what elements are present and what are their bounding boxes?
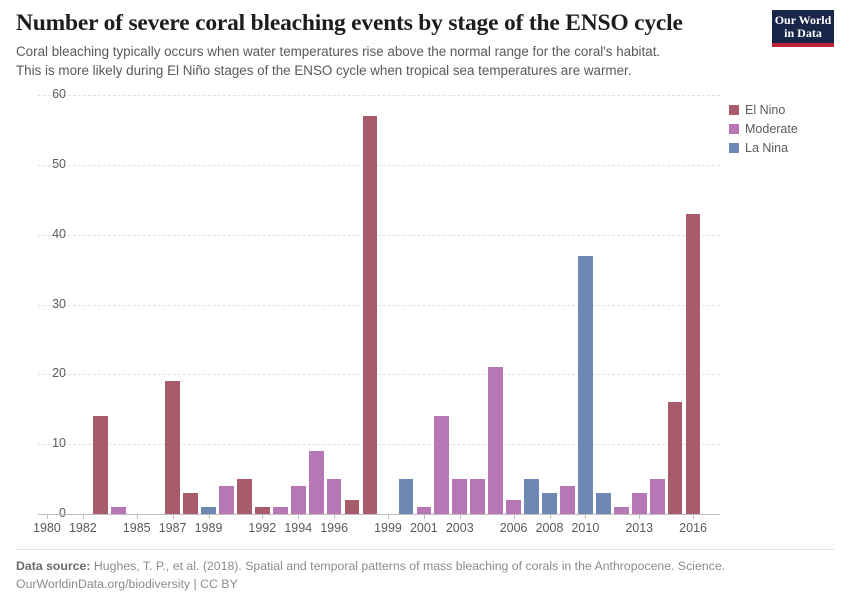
bar-2010[interactable] (578, 256, 593, 514)
bar-1992[interactable] (255, 507, 270, 514)
bar-1993[interactable] (273, 507, 288, 514)
x-axis-tick-label: 2001 (410, 521, 438, 535)
x-axis-tick (173, 514, 174, 519)
x-axis-tick (262, 514, 263, 519)
footer-license-line[interactable]: OurWorldinData.org/biodiversity | CC BY (16, 575, 834, 593)
chart-header: Number of severe coral bleaching events … (16, 8, 834, 80)
x-axis-tick-label: 2013 (625, 521, 653, 535)
legend-swatch-icon (729, 105, 739, 115)
x-axis-tick (550, 514, 551, 519)
x-axis-tick (639, 514, 640, 519)
x-axis-tick-label: 1999 (374, 521, 402, 535)
legend-item-la-nina[interactable]: La Nina (729, 141, 844, 155)
bar-2002[interactable] (434, 416, 449, 514)
x-axis-tick (209, 514, 210, 519)
x-axis-tick-label: 1982 (69, 521, 97, 535)
bar-1995[interactable] (309, 451, 324, 514)
bar-2009[interactable] (560, 486, 575, 514)
x-axis-tick-label: 1992 (248, 521, 276, 535)
footer-source-line: Data source: Hughes, T. P., et al. (2018… (16, 557, 834, 575)
bars-layer (0, 95, 850, 514)
bar-2014[interactable] (650, 479, 665, 514)
bar-2012[interactable] (614, 507, 629, 514)
bar-1997[interactable] (345, 500, 360, 514)
bar-2016[interactable] (686, 214, 701, 514)
x-axis-line (38, 514, 720, 515)
bar-1984[interactable] (111, 507, 126, 514)
x-axis-tick (460, 514, 461, 519)
bar-1983[interactable] (93, 416, 108, 514)
logo-line-2: in Data (774, 27, 832, 40)
footer-source-label: Data source: (16, 559, 91, 573)
legend-swatch-icon (729, 143, 739, 153)
chart-legend: El NinoModerateLa Nina (729, 103, 844, 160)
x-axis-tick-label: 2006 (500, 521, 528, 535)
legend-label: La Nina (745, 141, 788, 155)
page-title: Number of severe coral bleaching events … (16, 8, 746, 38)
x-axis-tick-label: 1985 (123, 521, 151, 535)
bar-1994[interactable] (291, 486, 306, 514)
bar-2003[interactable] (452, 479, 467, 514)
legend-item-el-nino[interactable]: El Nino (729, 103, 844, 117)
bar-2006[interactable] (506, 500, 521, 514)
x-axis-tick-label: 2008 (536, 521, 564, 535)
x-axis-tick-label: 1980 (33, 521, 61, 535)
chart-page: Number of severe coral bleaching events … (0, 0, 850, 600)
x-axis-tick (298, 514, 299, 519)
plot-area: 0102030405060 19801982198519871989199219… (0, 95, 850, 540)
bar-2005[interactable] (488, 367, 503, 514)
x-axis-tick (334, 514, 335, 519)
x-axis-tick (47, 514, 48, 519)
bar-2008[interactable] (542, 493, 557, 514)
bar-2004[interactable] (470, 479, 485, 514)
bar-1988[interactable] (183, 493, 198, 514)
owid-logo[interactable]: Our World in Data (772, 10, 834, 47)
legend-label: Moderate (745, 122, 798, 136)
header-text-block: Number of severe coral bleaching events … (16, 8, 746, 80)
bar-2015[interactable] (668, 402, 683, 514)
footer-source-text: Hughes, T. P., et al. (2018). Spatial an… (94, 559, 725, 573)
x-axis-tick-label: 1987 (159, 521, 187, 535)
x-axis-tick (514, 514, 515, 519)
bar-2013[interactable] (632, 493, 647, 514)
bar-1991[interactable] (237, 479, 252, 514)
legend-label: El Nino (745, 103, 785, 117)
bar-1996[interactable] (327, 479, 342, 514)
x-axis-tick (585, 514, 586, 519)
bar-2011[interactable] (596, 493, 611, 514)
legend-item-moderate[interactable]: Moderate (729, 122, 844, 136)
legend-swatch-icon (729, 124, 739, 134)
x-axis-tick (388, 514, 389, 519)
x-axis-tick (424, 514, 425, 519)
x-axis-tick-label: 2003 (446, 521, 474, 535)
bar-1998[interactable] (363, 116, 378, 514)
x-axis-tick-label: 1994 (284, 521, 312, 535)
bar-2000[interactable] (399, 479, 414, 514)
x-axis-tick-label: 2010 (571, 521, 599, 535)
x-axis-tick (137, 514, 138, 519)
bar-1987[interactable] (165, 381, 180, 514)
bar-1990[interactable] (219, 486, 234, 514)
chart-subtitle-line-2: This is more likely during El Niño stage… (16, 61, 746, 80)
x-axis-tick-label: 1989 (195, 521, 223, 535)
x-axis-tick (693, 514, 694, 519)
bar-1989[interactable] (201, 507, 216, 514)
chart-subtitle-line-1: Coral bleaching typically occurs when wa… (16, 42, 746, 61)
x-axis-tick (83, 514, 84, 519)
chart-footer: Data source: Hughes, T. P., et al. (2018… (16, 549, 834, 593)
x-axis-tick-label: 2016 (679, 521, 707, 535)
bar-2001[interactable] (417, 507, 432, 514)
bar-2007[interactable] (524, 479, 539, 514)
x-axis-tick-label: 1996 (320, 521, 348, 535)
